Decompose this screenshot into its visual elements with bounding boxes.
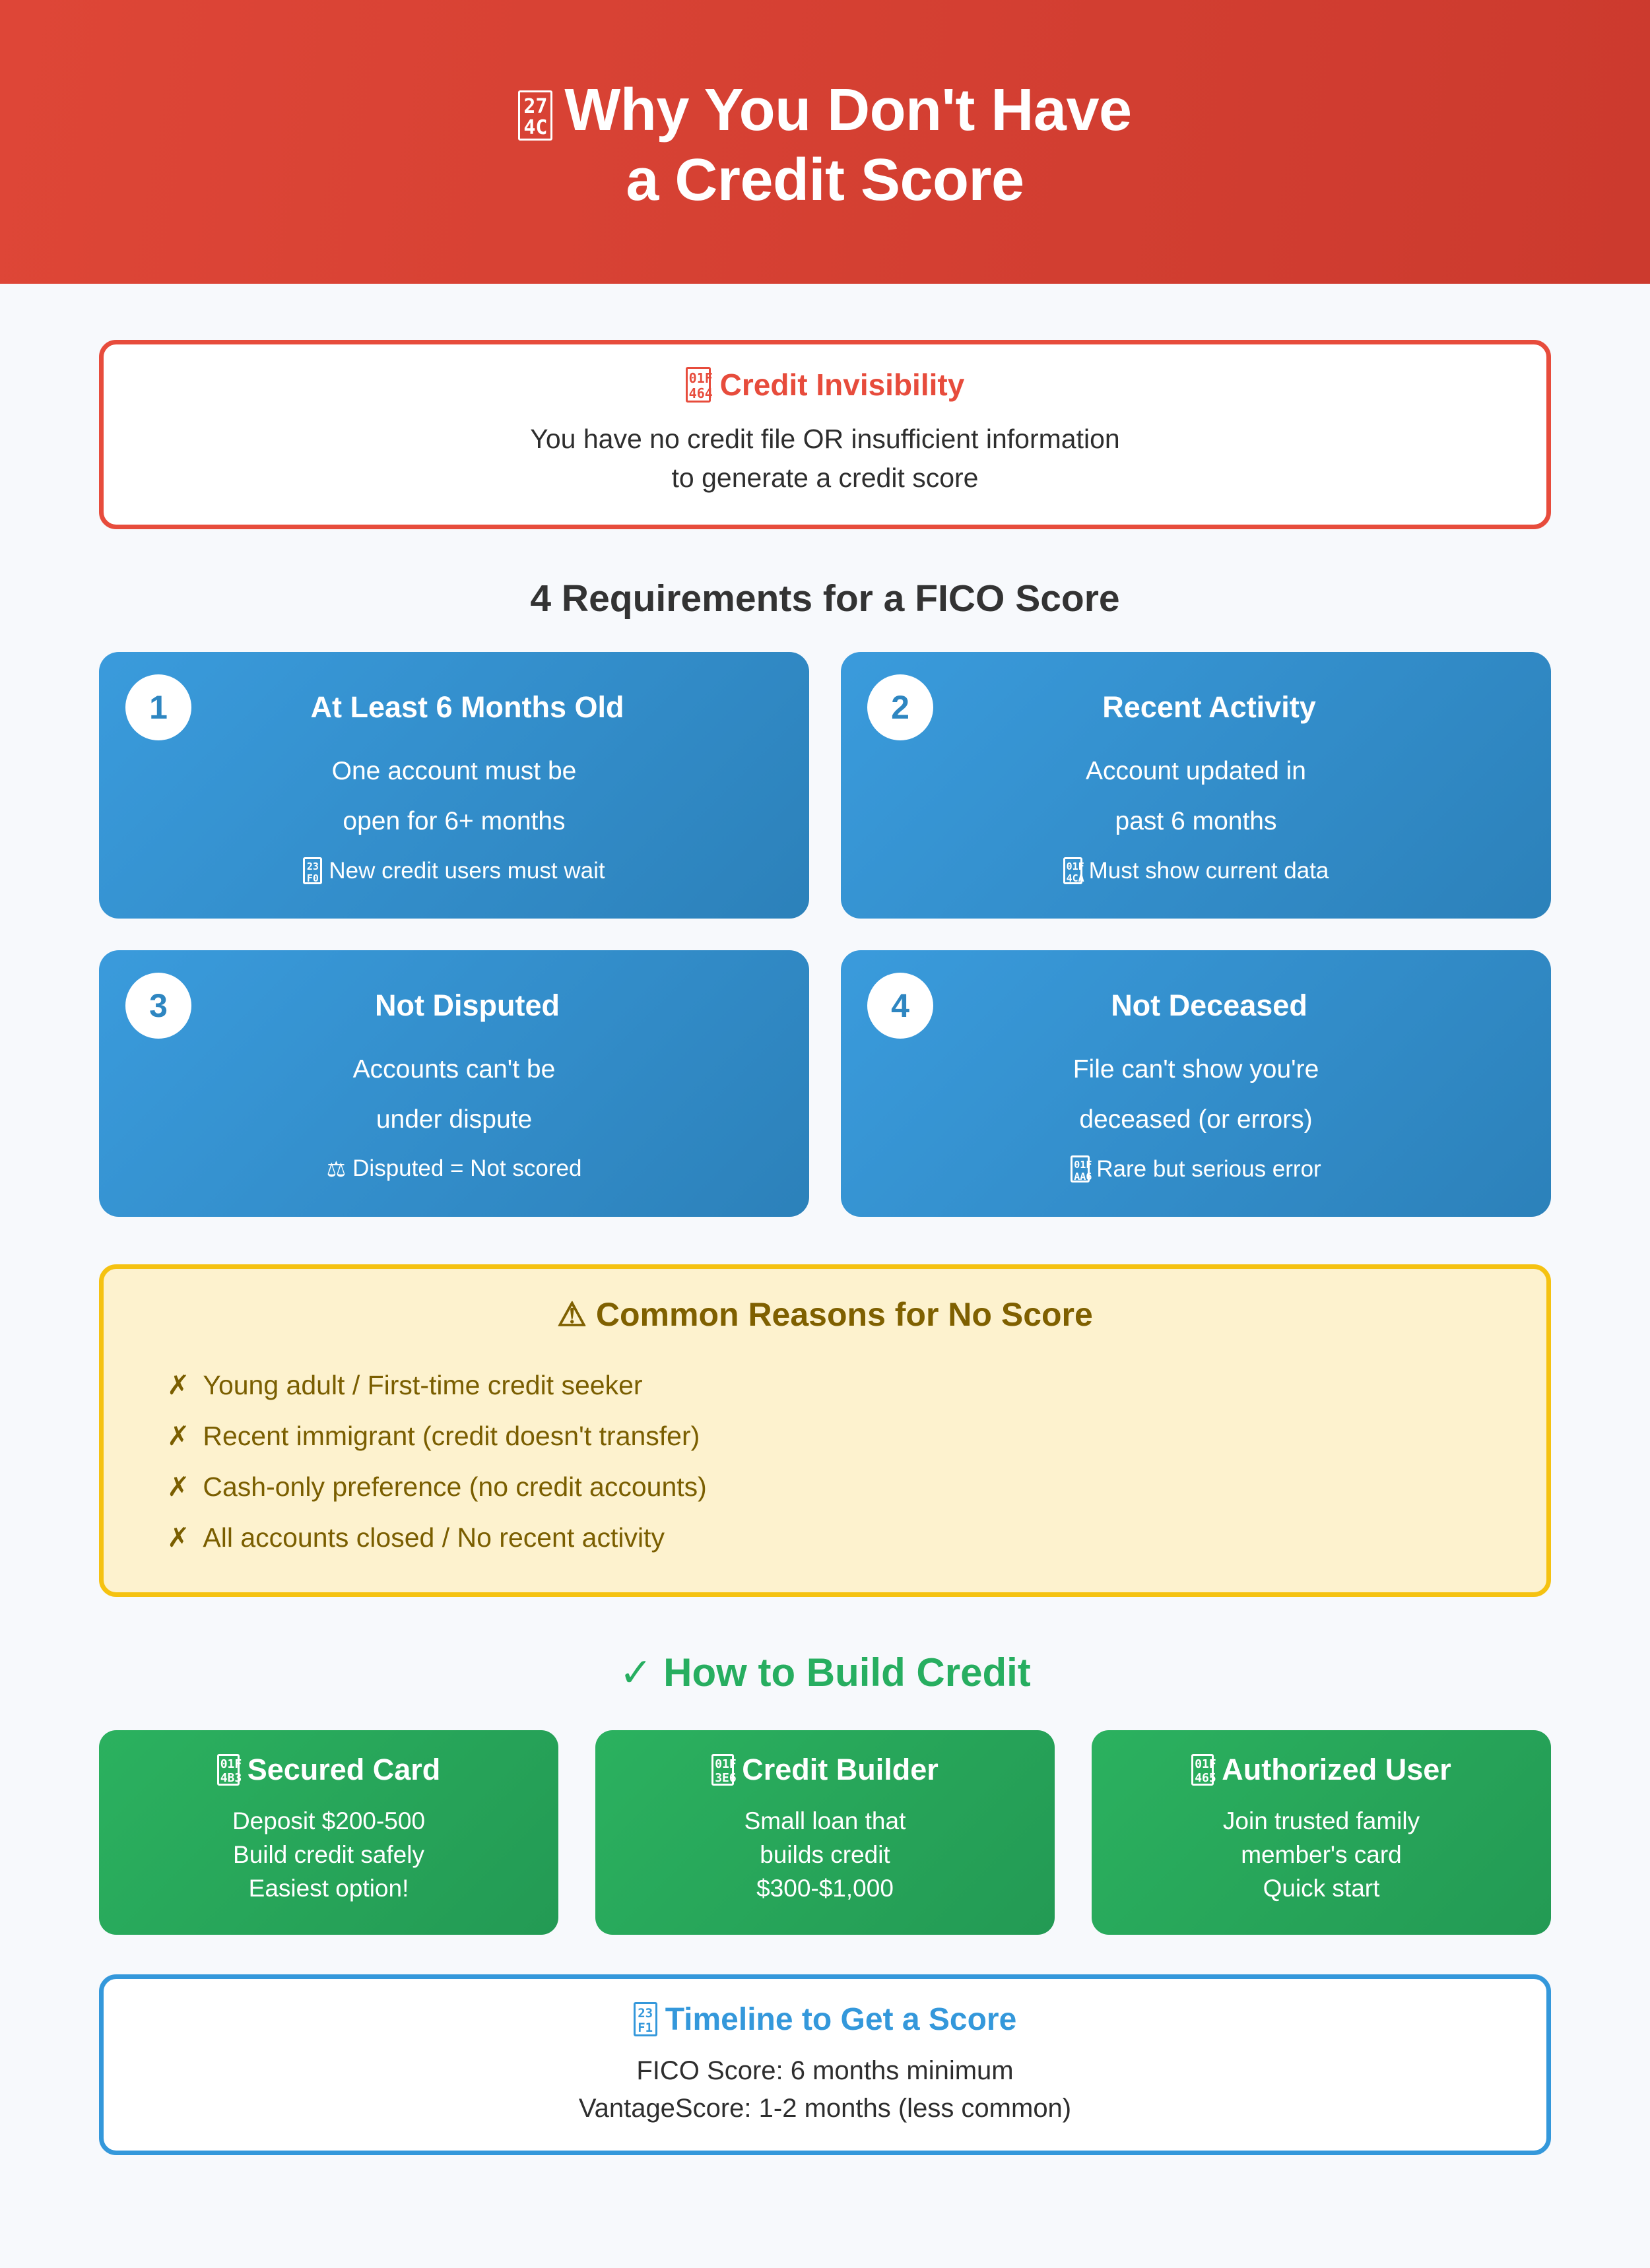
requirement-desc-line-1: File can't show you're bbox=[867, 1051, 1525, 1089]
requirement-number-badge: 3 bbox=[125, 973, 191, 1039]
list-item-label: Recent immigrant (credit doesn't transfe… bbox=[203, 1423, 700, 1450]
infographic-page: 27 4C Why You Don't Have a Credit Score … bbox=[0, 0, 1650, 2268]
build-card-line-1: Deposit $200-500 bbox=[115, 1804, 543, 1838]
build-card-line-2: builds credit bbox=[611, 1838, 1039, 1871]
warning-title: ⚠ Common Reasons for No Score bbox=[141, 1295, 1509, 1334]
build-card-line-3: Easiest option! bbox=[115, 1871, 543, 1905]
common-reasons-warning-box: ⚠ Common Reasons for No Score ✗ Young ad… bbox=[99, 1264, 1551, 1597]
page-title-text-1: Why You Don't Have bbox=[564, 77, 1131, 143]
timeline-title-text: Timeline to Get a Score bbox=[665, 2001, 1017, 2038]
build-credit-card: 01F 3E6 Credit Builder Small loan that b… bbox=[595, 1730, 1055, 1935]
requirement-note: 23 F0 New credit users must wait bbox=[125, 857, 783, 884]
alert-body-line-1: You have no credit file OR insufficient … bbox=[130, 420, 1520, 459]
requirement-desc-line-2: past 6 months bbox=[867, 802, 1525, 841]
bar-chart-icon: 01F 4CA bbox=[1063, 857, 1082, 884]
requirement-desc-line-2: open for 6+ months bbox=[125, 802, 783, 841]
timeline-line-1: FICO Score: 6 months minimum bbox=[130, 2052, 1520, 2090]
page-title-line-2: a Credit Score bbox=[626, 145, 1024, 215]
build-card-line-3: $300-$1,000 bbox=[611, 1871, 1039, 1905]
build-card-title-text: Authorized User bbox=[1222, 1753, 1451, 1787]
alert-title-text: Credit Invisibility bbox=[720, 367, 965, 403]
requirement-note-text: Disputed = Not scored bbox=[352, 1155, 581, 1182]
build-credit-card: 01F 4B3 Secured Card Deposit $200-500 Bu… bbox=[99, 1730, 558, 1935]
stopwatch-icon: 23 F1 bbox=[634, 2002, 657, 2036]
page-header: 27 4C Why You Don't Have a Credit Score bbox=[0, 0, 1650, 284]
cross-bullet-icon: ✗ bbox=[167, 1372, 189, 1399]
person-silhouette-icon: 01F 464 bbox=[686, 367, 711, 403]
build-card-title: 01F 3E6 Credit Builder bbox=[611, 1753, 1039, 1787]
requirement-desc-line-2: under dispute bbox=[125, 1101, 783, 1139]
timeline-box: 23 F1 Timeline to Get a Score FICO Score… bbox=[99, 1974, 1551, 2156]
requirement-note-text: New credit users must wait bbox=[329, 858, 605, 884]
requirement-card: 1 At Least 6 Months Old One account must… bbox=[99, 652, 809, 919]
cross-bullet-icon: ✗ bbox=[167, 1524, 189, 1551]
requirements-section-heading: 4 Requirements for a FICO Score bbox=[0, 577, 1650, 620]
requirement-number-badge: 2 bbox=[867, 674, 933, 740]
list-item: ✗ All accounts closed / No recent activi… bbox=[141, 1512, 1509, 1563]
timeline-title: 23 F1 Timeline to Get a Score bbox=[130, 2001, 1520, 2038]
requirement-card: 4 Not Deceased File can't show you're de… bbox=[841, 950, 1551, 1217]
alarm-clock-icon: 23 F0 bbox=[303, 857, 322, 884]
requirement-card: 3 Not Disputed Accounts can't be under d… bbox=[99, 950, 809, 1217]
requirement-desc-line-1: Accounts can't be bbox=[125, 1051, 783, 1089]
credit-invisibility-alert: 01F 464 Credit Invisibility You have no … bbox=[99, 340, 1551, 529]
list-item-label: Cash-only preference (no credit accounts… bbox=[203, 1474, 706, 1501]
cross-bullet-icon: ✗ bbox=[167, 1474, 189, 1501]
cross-bullet-icon: ✗ bbox=[167, 1423, 189, 1450]
requirement-note: 01F 4CA Must show current data bbox=[867, 857, 1525, 884]
build-card-title-text: Secured Card bbox=[247, 1753, 441, 1787]
requirement-note: ⚖Disputed = Not scored bbox=[125, 1155, 783, 1182]
build-card-line-2: Build credit safely bbox=[115, 1838, 543, 1871]
warning-title-text: Common Reasons for No Score bbox=[596, 1296, 1093, 1333]
build-credit-section-heading: ✓ How to Build Credit bbox=[0, 1650, 1650, 1696]
requirement-card-header: 4 Not Deceased bbox=[867, 973, 1525, 1039]
requirement-card-header: 1 At Least 6 Months Old bbox=[125, 674, 783, 740]
balance-scale-icon: ⚖ bbox=[327, 1156, 346, 1182]
build-card-line-1: Small loan that bbox=[611, 1804, 1039, 1838]
warning-triangle-icon: ⚠ bbox=[557, 1296, 587, 1333]
two-people-icon: 01F 465 bbox=[1191, 1754, 1214, 1786]
list-item: ✗ Cash-only preference (no credit accoun… bbox=[141, 1462, 1509, 1512]
requirement-card-header: 3 Not Disputed bbox=[125, 973, 783, 1039]
list-item: ✗ Recent immigrant (credit doesn't trans… bbox=[141, 1411, 1509, 1462]
requirement-desc-line-1: Account updated in bbox=[867, 752, 1525, 791]
requirement-number-badge: 4 bbox=[867, 973, 933, 1039]
requirement-note-text: Rare but serious error bbox=[1096, 1156, 1321, 1183]
alert-title: 01F 464 Credit Invisibility bbox=[130, 367, 1520, 403]
bank-icon: 01F 3E6 bbox=[711, 1754, 734, 1786]
build-card-line-1: Join trusted family bbox=[1107, 1804, 1535, 1838]
requirement-card: 2 Recent Activity Account updated in pas… bbox=[841, 652, 1551, 919]
requirement-desc-line-2: deceased (or errors) bbox=[867, 1101, 1525, 1139]
build-card-title: 01F 465 Authorized User bbox=[1107, 1753, 1535, 1787]
page-title-line-1: 27 4C Why You Don't Have bbox=[518, 75, 1131, 145]
requirement-title: Not Disputed bbox=[191, 988, 783, 1023]
credit-card-icon: 01F 4B3 bbox=[217, 1754, 240, 1786]
requirement-title: Not Deceased bbox=[933, 988, 1525, 1023]
requirement-desc-line-1: One account must be bbox=[125, 752, 783, 791]
headstone-icon: 01F AA6 bbox=[1071, 1155, 1090, 1183]
alert-body-line-2: to generate a credit score bbox=[130, 459, 1520, 498]
build-credit-heading-text: How to Build Credit bbox=[663, 1650, 1031, 1695]
build-card-title-text: Credit Builder bbox=[742, 1753, 939, 1787]
requirement-number-badge: 1 bbox=[125, 674, 191, 740]
requirement-title: At Least 6 Months Old bbox=[191, 690, 783, 725]
build-card-line-3: Quick start bbox=[1107, 1871, 1535, 1905]
build-credit-card: 01F 465 Authorized User Join trusted fam… bbox=[1092, 1730, 1551, 1935]
timeline-line-2: VantageScore: 1-2 months (less common) bbox=[130, 2090, 1520, 2127]
build-card-line-2: member's card bbox=[1107, 1838, 1535, 1871]
list-item-label: Young adult / First-time credit seeker bbox=[203, 1372, 642, 1399]
build-card-title: 01F 4B3 Secured Card bbox=[115, 1753, 543, 1787]
requirement-card-header: 2 Recent Activity bbox=[867, 674, 1525, 740]
requirement-note: 01F AA6 Rare but serious error bbox=[867, 1155, 1525, 1183]
build-credit-grid: 01F 4B3 Secured Card Deposit $200-500 Bu… bbox=[99, 1730, 1551, 1935]
requirement-note-text: Must show current data bbox=[1089, 858, 1329, 884]
requirements-grid: 1 At Least 6 Months Old One account must… bbox=[99, 652, 1551, 1217]
requirement-title: Recent Activity bbox=[933, 690, 1525, 725]
cross-mark-icon: 27 4C bbox=[518, 90, 552, 141]
check-mark-icon: ✓ bbox=[619, 1650, 652, 1695]
list-item: ✗ Young adult / First-time credit seeker bbox=[141, 1360, 1509, 1411]
list-item-label: All accounts closed / No recent activity bbox=[203, 1524, 665, 1551]
